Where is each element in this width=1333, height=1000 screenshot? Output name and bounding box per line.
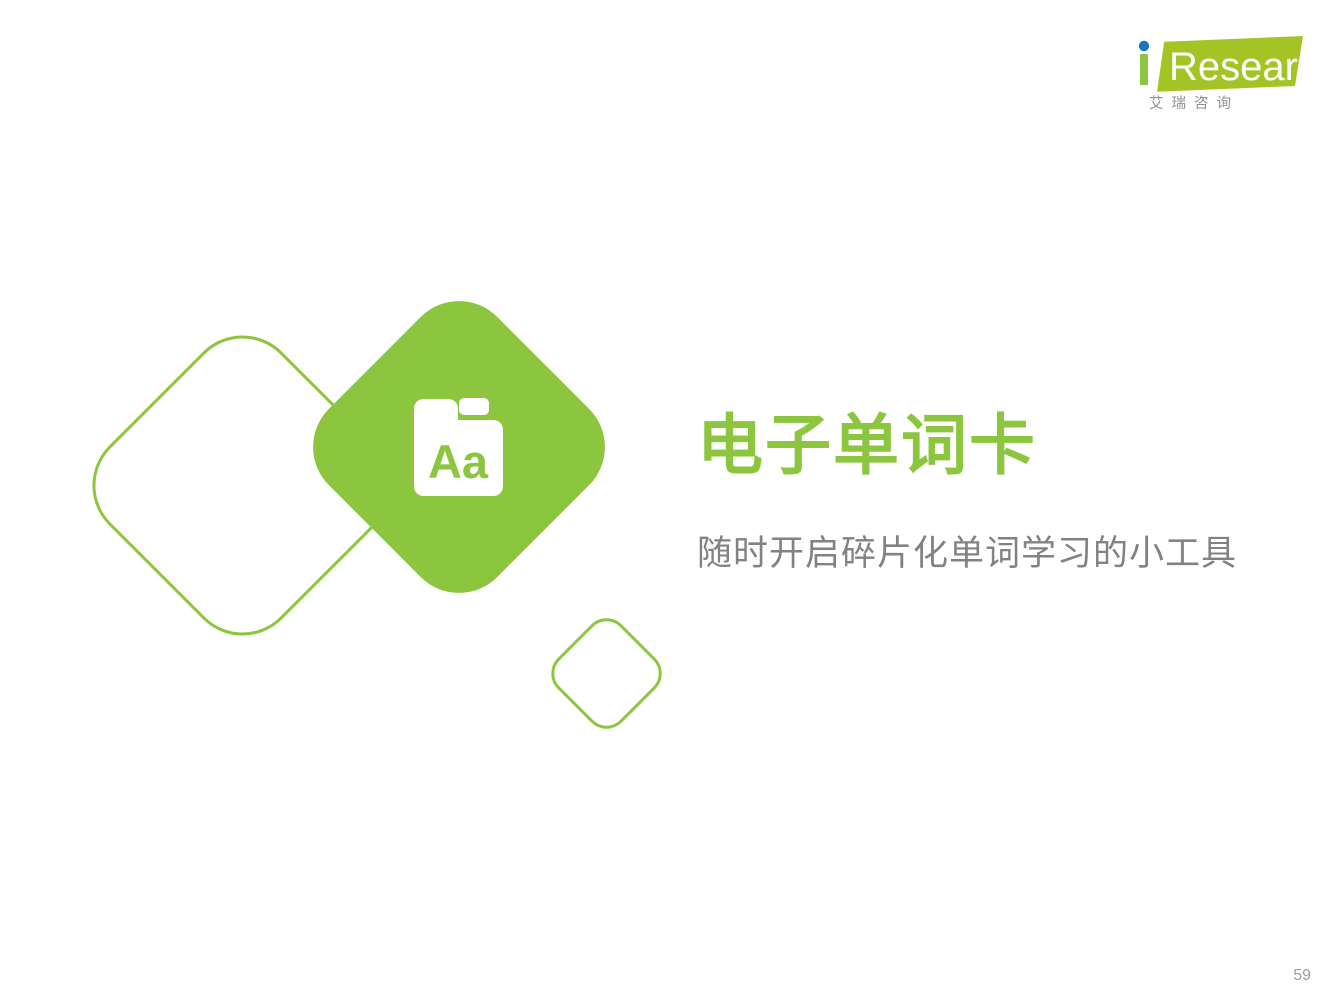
word-card-folder-glyph: Aa (414, 398, 503, 497)
page-subtitle: 随时开启碎片化单词学习的小工具 (697, 487, 1257, 576)
page-number: 59 (1293, 966, 1311, 986)
card-icon-letters: Aa (428, 435, 489, 488)
page-title: 电子单词卡 (697, 403, 1257, 487)
iresearch-chinese-name: 艾瑞咨询 (1149, 94, 1299, 114)
iresearch-wordmark-text: Research (1169, 45, 1303, 89)
small-rounded-diamond-outline-icon (542, 609, 671, 738)
hero-text-block: 电子单词卡 随时开启碎片化单词学习的小工具 (697, 403, 1257, 576)
iresearch-wordmark-glyph: Research (1131, 36, 1303, 92)
iresearch-logo: Research 艾瑞咨询 (1131, 36, 1303, 118)
word-card-folder-icon: Aa (414, 398, 503, 497)
slide-canvas: Aa 电子单词卡 随时开启碎片化单词学习的小工具 Research 艾瑞咨询 5… (0, 0, 1333, 1000)
iresearch-logo-mark: Research (1131, 36, 1303, 92)
